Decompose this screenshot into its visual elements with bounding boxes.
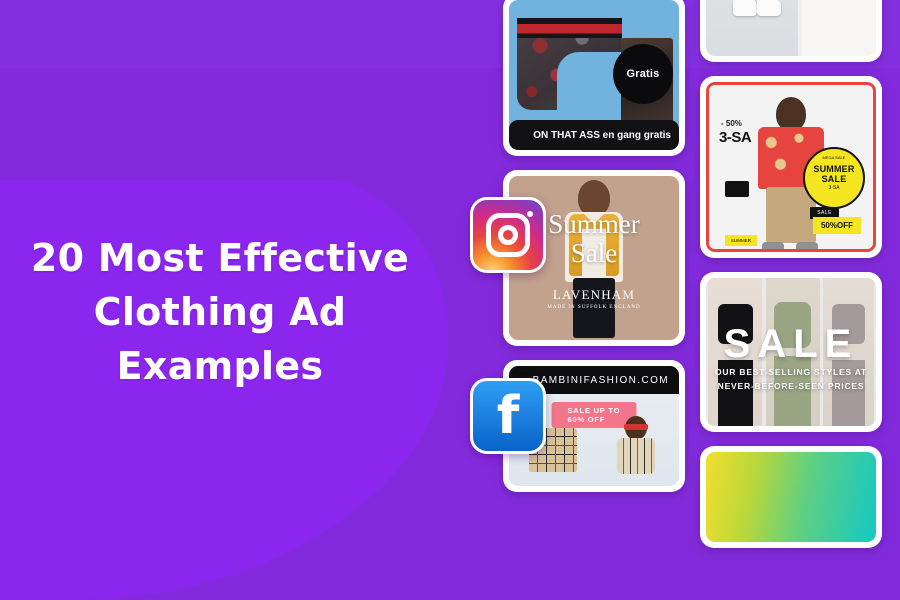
ad-card-shoes-skirt[interactable] [700, 0, 882, 62]
summer-sale-badge: MEGA SALE SUMMER SALE 3-SA [803, 147, 865, 209]
badge-top-text: MEGA SALE [823, 155, 846, 160]
sunglasses-icon [624, 424, 648, 430]
sneaker-right [796, 242, 818, 252]
sale-subline-1: OUR BEST-SELLING STYLES AT [715, 367, 867, 377]
instagram-icon[interactable] [470, 197, 546, 273]
sale-headline: SALE [706, 322, 876, 367]
ad-card-summer-sale[interactable]: - 50% 3-SA MEGA SALE SUMMER SALE 3-SA SA… [700, 76, 882, 258]
poster-canvas: 20 Most Effective Clothing Ad Examples G… [0, 0, 900, 600]
facebook-icon[interactable]: f [470, 378, 546, 454]
page-title-line-3: Examples [0, 340, 440, 394]
child-model [615, 416, 657, 474]
ad-card-image: - 50% 3-SA MEGA SALE SUMMER SALE 3-SA SA… [706, 82, 876, 252]
panel-sneakers [706, 0, 798, 56]
child-plaid-top [617, 438, 655, 474]
black-price-tag [725, 181, 749, 197]
sneaker-right [757, 0, 781, 16]
page-title-line-2: Clothing Ad [0, 286, 440, 340]
sale-subline-2: NEVER-BEFORE-SEEN PRICES [718, 381, 865, 391]
brand-tagline: MADE IN SUFFOLK ENGLAND [509, 305, 679, 310]
gratis-badge: Gratis [613, 44, 673, 104]
badge-line-2: SALE [822, 175, 847, 184]
sale-subline: OUR BEST-SELLING STYLES AT NEVER-BEFORE-… [706, 366, 876, 393]
brand-name: LAVENHAM [553, 287, 635, 302]
sneaker-left [762, 242, 784, 252]
percent-off-tag: 50%OFF [813, 217, 861, 234]
ad-card-activewear-sale[interactable]: SALE OUR BEST-SELLING STYLES AT NEVER-BE… [700, 272, 882, 432]
brand-wordmark: LAVENHAM MADE IN SUFFOLK ENGLAND [509, 287, 679, 310]
instagram-lens [498, 225, 518, 245]
discount-label: - 50% [721, 119, 742, 128]
ad-card-image [706, 0, 876, 56]
facebook-f-glyph: f [497, 390, 520, 442]
page-title: 20 Most Effective Clothing Ad Examples [0, 232, 440, 394]
page-title-line-1: 20 Most Effective [0, 232, 440, 286]
ad-card-image: SALE OUR BEST-SELLING STYLES AT NEVER-BE… [706, 278, 876, 426]
badge-sub-text: 3-SA [828, 185, 839, 191]
headline-line-2: Sale [571, 238, 618, 268]
headline-line-1: Summer [548, 209, 640, 239]
ad-caption-bar: ON THAT ASS en gang gratis [509, 120, 679, 150]
instagram-flash-dot [527, 211, 533, 217]
ad-card-on-that-ass[interactable]: Gratis ON THAT ASS en gang gratis [503, 0, 685, 156]
sneaker-left [733, 0, 757, 16]
small-yellow-tag: SUMMER [725, 235, 757, 246]
ad-card-image: Gratis ON THAT ASS en gang gratis [509, 0, 679, 150]
panel-skirt [802, 0, 876, 56]
model-head [776, 97, 806, 131]
ad-card-image [706, 452, 876, 542]
boxer-briefs-product [517, 18, 622, 110]
ad-card-gradient[interactable] [700, 446, 882, 548]
ad-card-column-right: - 50% 3-SA MEGA SALE SUMMER SALE 3-SA SA… [700, 0, 882, 548]
code-label: 3-SA [719, 129, 751, 146]
model-legs [737, 0, 783, 14]
